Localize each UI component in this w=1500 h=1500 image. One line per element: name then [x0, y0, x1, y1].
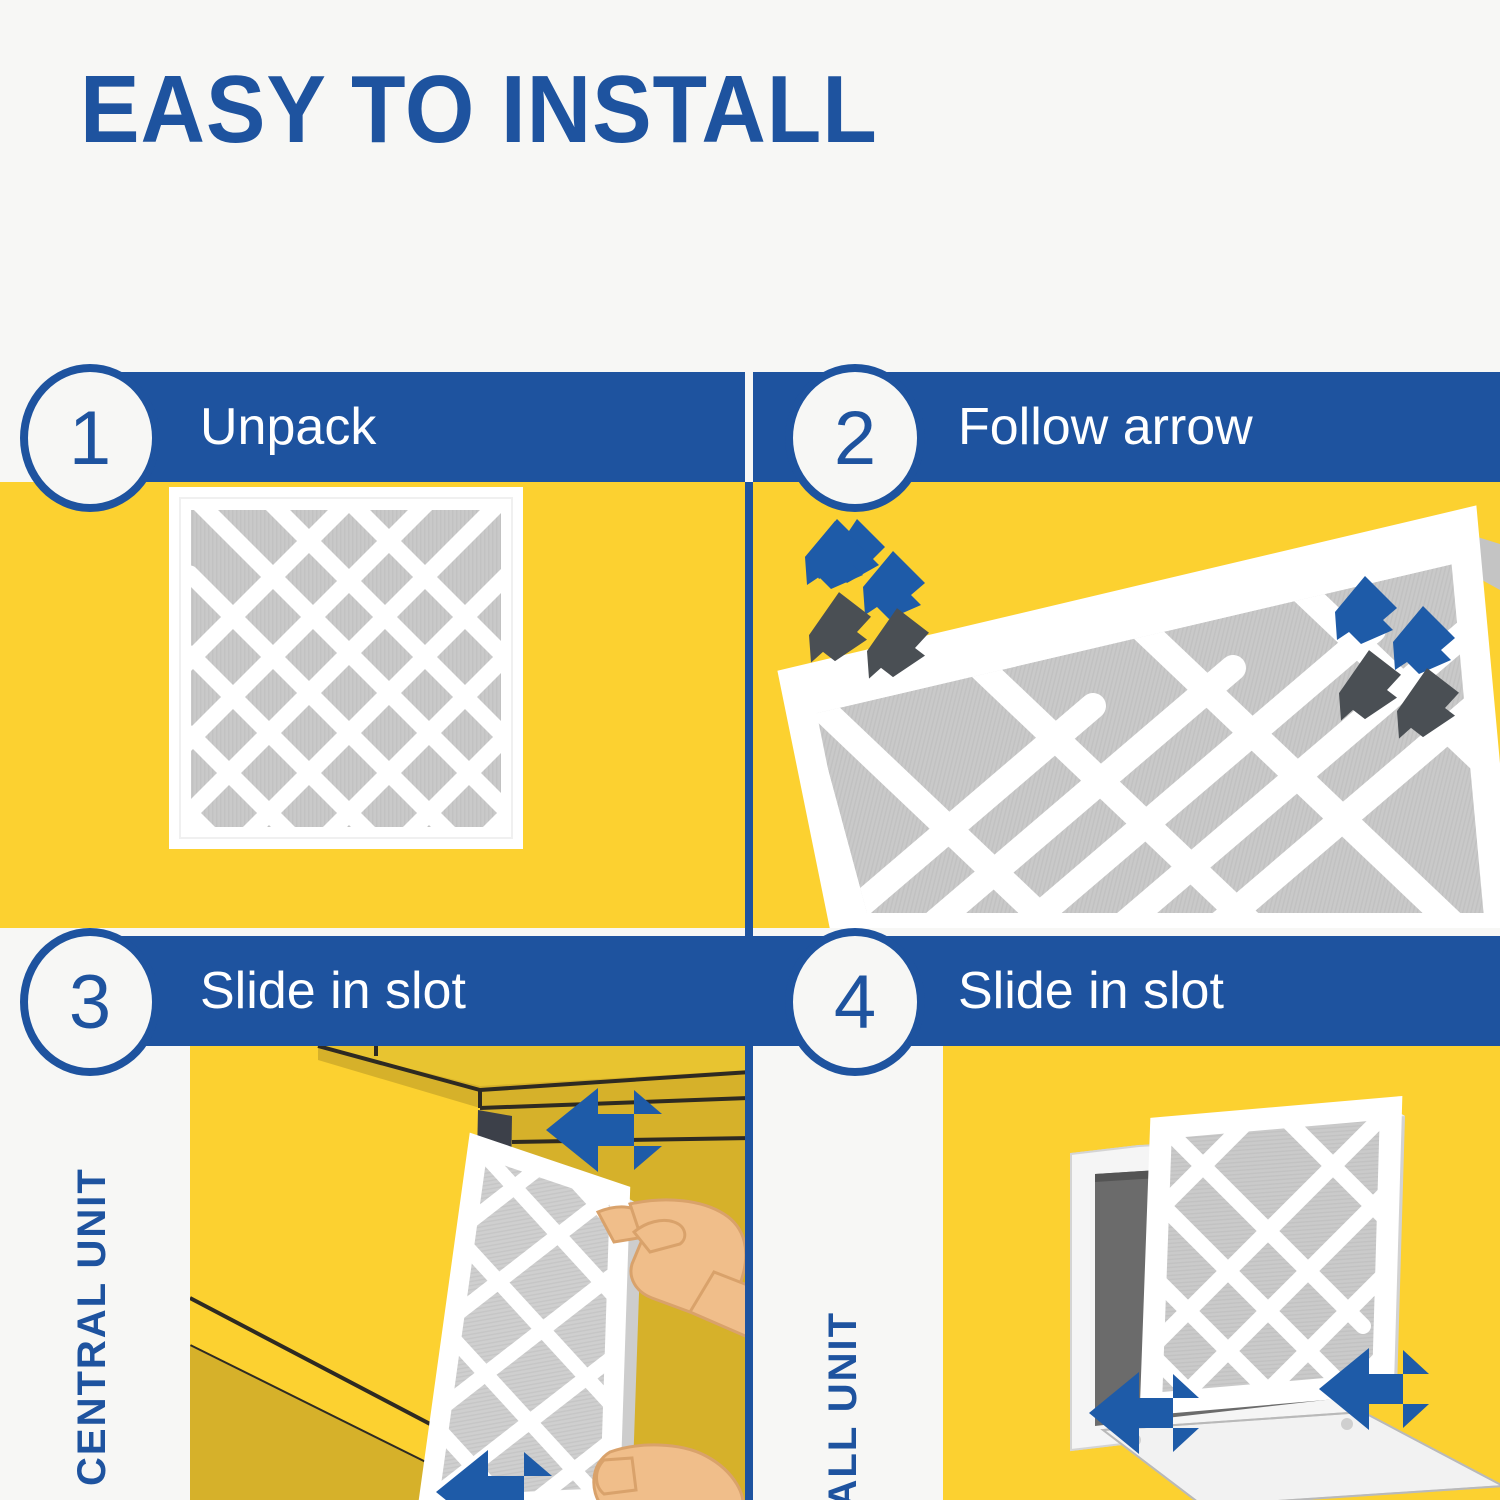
step-panel-3: CENTRAL UNIT — [0, 936, 745, 1500]
step-2-number-badge: 2 — [785, 364, 925, 512]
step-1-number-badge: 1 — [20, 364, 160, 512]
step-1-illustration-stage — [0, 482, 745, 928]
central-unit-illustration — [190, 1046, 745, 1500]
step-1-label: Unpack — [200, 397, 376, 457]
step-4-label: Slide in slot — [958, 961, 1224, 1021]
step-4-illustration-stage — [943, 1046, 1500, 1500]
step-4-number-badge: 4 — [785, 928, 925, 1076]
step-3-label: Slide in slot — [200, 961, 466, 1021]
step-1-header: Unpack — [85, 372, 745, 482]
step-panel-1: Unpack 1 — [0, 372, 745, 928]
page-title: EASY TO INSTALL — [80, 62, 878, 158]
step-3-side-label: CENTRAL UNIT — [70, 1066, 130, 1486]
step-4-side-label: WALL UNIT — [821, 1126, 881, 1500]
column-divider — [745, 482, 753, 1500]
flat-filter-illustration — [0, 482, 745, 928]
step-panel-2: Follow arrow 2 — [753, 372, 1500, 928]
step-2-illustration-stage — [753, 482, 1500, 928]
wall-unit-illustration — [943, 1046, 1500, 1500]
infographic-root: EASY TO INSTALL — [0, 0, 1500, 1500]
tilted-filter-illustration — [753, 482, 1500, 928]
step-panel-4: WALL UNIT — [753, 936, 1500, 1500]
step-3-header: Slide in slot — [85, 936, 745, 1046]
step-3-illustration-stage — [190, 1046, 745, 1500]
step-3-number-badge: 3 — [20, 928, 160, 1076]
step-2-label: Follow arrow — [958, 397, 1253, 457]
